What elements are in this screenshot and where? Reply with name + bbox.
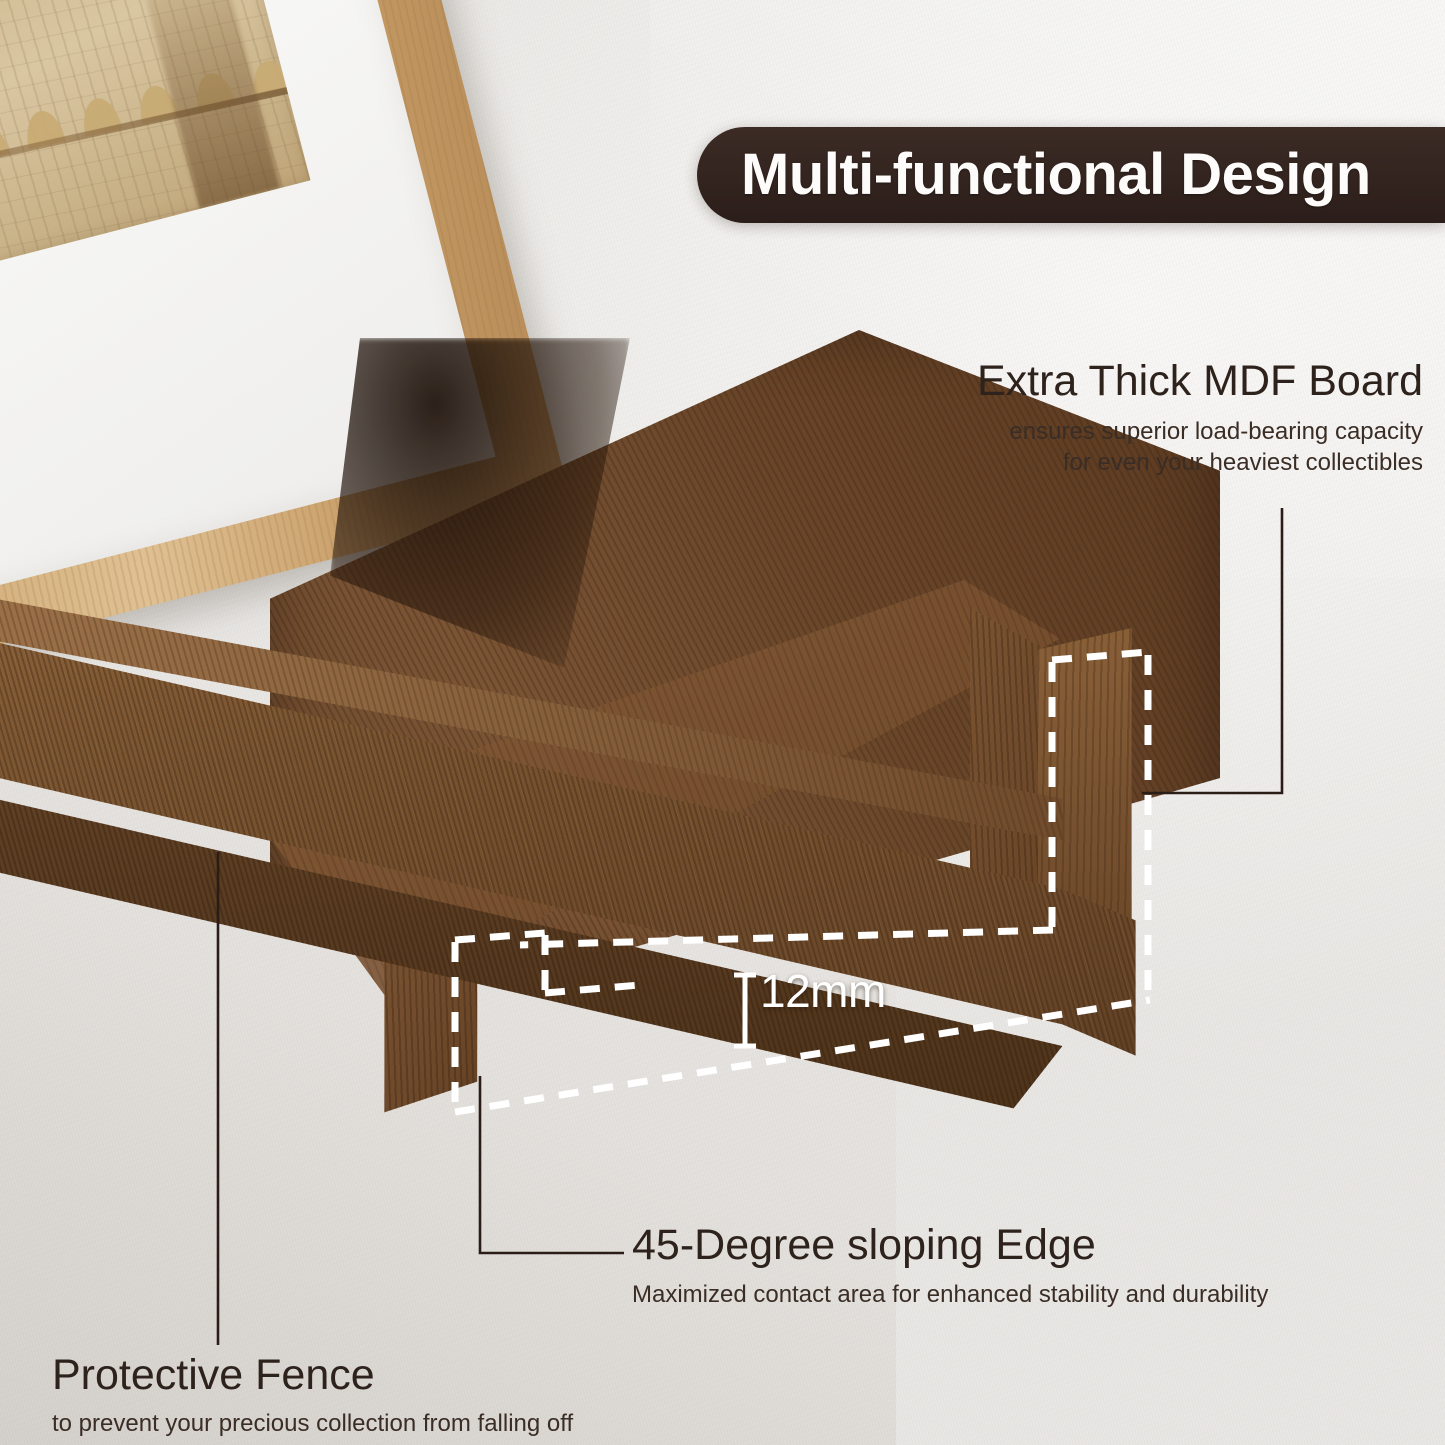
callout-mdf-title: Extra Thick MDF Board xyxy=(977,358,1423,404)
callout-slope-title: 45-Degree sloping Edge xyxy=(632,1222,1268,1268)
callout-slope-subtitle: Maximized contact area for enhanced stab… xyxy=(632,1280,1268,1311)
callout-mdf-subtitle-line2: for even your heaviest collectibles xyxy=(977,448,1423,479)
title-banner: Multi-functional Design xyxy=(697,127,1445,223)
callout-mdf-subtitle-line1: ensures superior load-bearing capacity xyxy=(977,417,1423,448)
callout-sloping-edge: 45-Degree sloping Edge Maximized contact… xyxy=(632,1222,1268,1311)
callout-fence-subtitle: to prevent your precious collection from… xyxy=(52,1409,573,1440)
callout-protective-fence: Protective Fence to prevent your preciou… xyxy=(52,1352,573,1440)
callout-mdf-board: Extra Thick MDF Board ensures superior l… xyxy=(977,358,1423,479)
infographic-canvas: 12mm Multi-functional Design Extra Thick… xyxy=(0,0,1445,1445)
callout-mdf-subtitle: ensures superior load-bearing capacity f… xyxy=(977,417,1423,478)
callout-fence-title: Protective Fence xyxy=(52,1352,573,1398)
banner-title: Multi-functional Design xyxy=(741,146,1371,204)
dimension-label-12mm: 12mm xyxy=(760,968,886,1014)
